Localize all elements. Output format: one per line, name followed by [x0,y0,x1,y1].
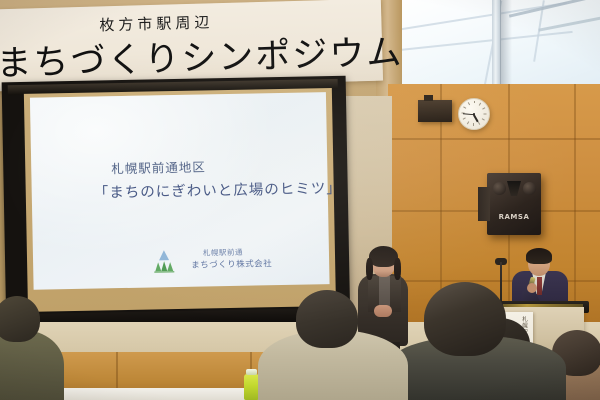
podium-speaker-hair [526,248,552,264]
clock-hour-hand [473,114,478,122]
audience-member-head [424,282,506,356]
projection-screen-frame: 札幌駅前通地区 「まちのにぎわいと広場のヒミツ」 札幌駅前通 まちづくり株式会社 [2,76,351,333]
window-shadow [500,0,512,84]
mountain-trees-mark [151,249,177,273]
speaker-driver [523,182,536,195]
speaker-port [507,181,521,196]
pa-speaker: RAMSA [487,173,541,235]
photograph-scene: RAMSA 枚方市駅周辺 まちづくりシンポジウム 札幌駅前通地区 「まちのにぎわ… [0,0,600,400]
drink-bottle [244,374,259,400]
projection-screen-surface: 札幌駅前通地区 「まちのにぎわいと広場のヒミツ」 札幌駅前通 まちづくり株式会社 [30,92,330,290]
podium-speaker-tie [537,277,542,295]
wall-clock [458,98,490,130]
white-table [62,388,272,400]
speaker-driver [493,182,506,195]
screen-border: 札幌駅前通地区 「まちのにぎわいと広場のヒミツ」 札幌駅前通 まちづくり株式会社 [24,88,336,312]
skylight-beam [538,15,600,31]
standing-woman-hands [374,305,392,317]
standing-woman-hair [394,258,401,280]
slide-logo-line2: まちづくり株式会社 [191,257,272,271]
skylight-beam [398,31,572,51]
pa-speaker-brand: RAMSA [487,213,541,221]
slide-logo-line1: 札幌駅前通 [203,247,243,259]
slide-heading: 札幌駅前通地区 [111,156,206,177]
panel-seam [388,280,600,282]
panel-seam [388,138,600,140]
podium-speaker-hand [527,283,537,293]
audience-member-head [0,296,40,342]
standing-woman-hair [366,258,373,280]
slide-logo: 札幌駅前通 まちづくり株式会社 [151,245,302,278]
bottle-cap [246,369,257,375]
standing-woman-lapel [390,276,401,312]
wall-mounted-speaker [418,100,452,122]
audience-member-head [296,290,358,348]
